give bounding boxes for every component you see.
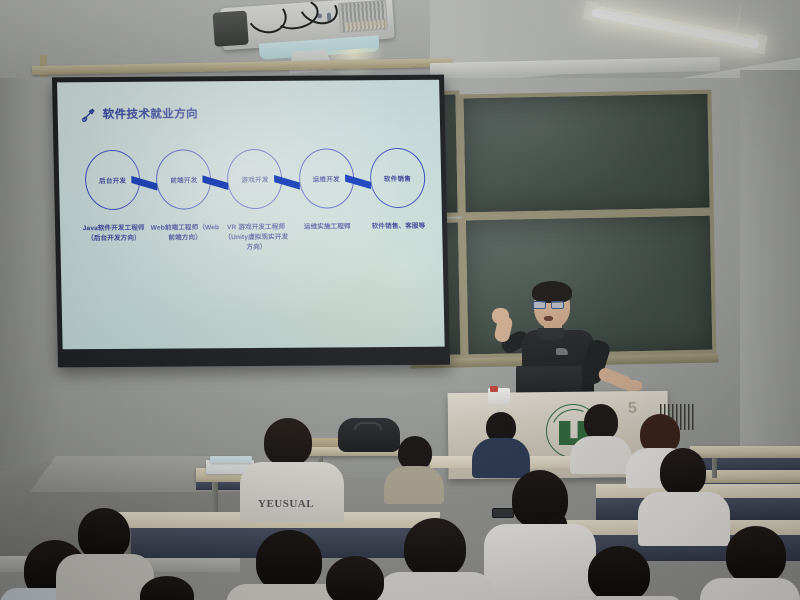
- flow-node[interactable]: 运维开发 运维实施工程师: [290, 148, 363, 253]
- instructor-fist: [492, 308, 509, 324]
- slide-surface: 软件技术就业方向 后台开发 Java软件开发工程师（后台开发方向） 前端开发 W…: [57, 80, 445, 350]
- podium-red-cup: [490, 386, 498, 392]
- backpack[interactable]: [338, 418, 400, 452]
- flow-node-circle[interactable]: 软件销售: [369, 148, 425, 208]
- desk-leg: [712, 458, 717, 478]
- wall-shadow-left: [0, 78, 60, 478]
- desk: [690, 446, 800, 458]
- process-flow-diagram: 后台开发 Java软件开发工程师（后台开发方向） 前端开发 Web前端工程师（W…: [76, 148, 434, 255]
- glasses-icon: [533, 301, 565, 309]
- slide-title: 软件技术就业方向: [103, 105, 199, 122]
- flow-node[interactable]: 软件销售 软件销售、客服等: [361, 148, 434, 253]
- flow-node-label: 软件销售: [384, 173, 411, 183]
- flow-node-label: 前端开发: [170, 174, 197, 184]
- flow-node-caption: VR 游戏开发工程师（Unity虚拟现实开发方向）: [221, 223, 292, 254]
- flow-node-caption: 软件销售、客服等: [363, 222, 433, 233]
- tools-icon: [82, 107, 97, 122]
- classroom-scene: 软件技术就业方向 后台开发 Java软件开发工程师（后台开发方向） 前端开发 W…: [0, 0, 800, 600]
- desk-leg: [212, 482, 218, 516]
- instructor-hair: [532, 281, 572, 303]
- flow-node-label: 后台开发: [99, 175, 126, 185]
- instructor-mouth: [544, 316, 553, 321]
- ceiling-projector: [220, 0, 404, 68]
- smartphone[interactable]: [492, 508, 514, 518]
- flow-node-label: 运维开发: [313, 173, 340, 183]
- flow-node-caption: 运维实施工程师: [292, 222, 362, 233]
- projection-screen[interactable]: 软件技术就业方向 后台开发 Java软件开发工程师（后台开发方向） 前端开发 W…: [52, 75, 450, 368]
- paper-stack: [210, 456, 252, 463]
- podium-number-label: 5: [628, 400, 637, 418]
- flow-node-label: 游戏开发: [241, 174, 268, 184]
- flow-node-caption: Web前端工程师（Web前端方向）: [150, 223, 220, 244]
- slide-title-row: 软件技术就业方向: [82, 105, 199, 122]
- flow-node[interactable]: 前端开发 Web前端工程师（Web前端方向）: [148, 149, 221, 254]
- shirt-logo-icon: [556, 348, 568, 355]
- flow-node[interactable]: 游戏开发 VR 游戏开发工程师（Unity虚拟现实开发方向）: [219, 149, 292, 254]
- flow-node[interactable]: 后台开发 Java软件开发工程师（后台开发方向）: [76, 150, 149, 255]
- instructor-collar: [538, 328, 564, 340]
- blackboard-panel: [459, 90, 713, 217]
- flow-node-caption: Java软件开发工程师（后台开发方向）: [79, 224, 149, 245]
- tshirt-text: YEUSUAL: [258, 498, 314, 510]
